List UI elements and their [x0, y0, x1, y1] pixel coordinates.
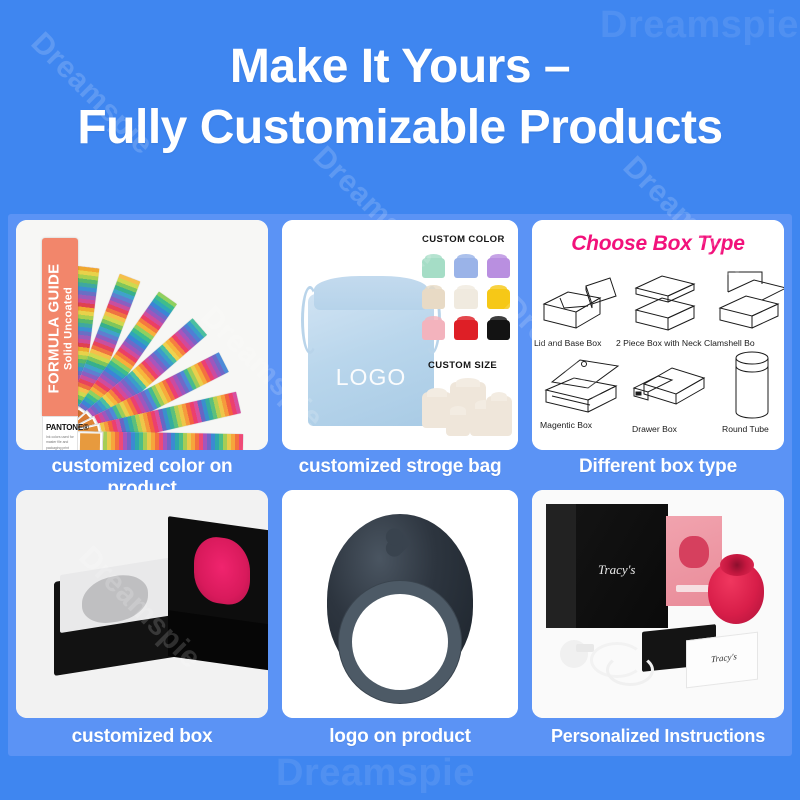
box-type-panel-title: Choose Box Type [532, 232, 784, 256]
box-icon-clamshell [714, 270, 784, 334]
size-bag [446, 410, 470, 436]
page-title: Make It Yours – Fully Customizable Produ… [0, 36, 800, 159]
bag-swatch-black [485, 314, 512, 340]
fan-blade [67, 431, 243, 450]
instructions-kit-photo: Tracy's Tracy's [532, 490, 784, 718]
caption-personalized-instructions: Personalized Instructions [532, 726, 784, 747]
card-image-customized-color: FORMULA GUIDE Solid Uncoated PANTONE® In… [16, 220, 268, 450]
card-personalized-instructions[interactable]: Tracy's Tracy's Personalized Instruction… [532, 490, 784, 752]
bag-swatch-mint [420, 252, 447, 278]
bag-swatch-lavender [485, 252, 512, 278]
size-bag [486, 396, 512, 436]
pantone-brand-label: PANTONE® [46, 423, 89, 432]
caption-customized-box: customized box [16, 726, 268, 748]
box-icon-2-piece-neck [628, 272, 700, 334]
caption-box-type: Different box type [532, 456, 784, 478]
box-label-5: Round Tube [722, 424, 769, 434]
box-type-chart: Choose Box Type Lid and Base Box [532, 220, 784, 450]
black-gift-box: Tracy's [546, 504, 668, 628]
box-label-1: 2 Piece Box with Neck [616, 338, 702, 348]
caption-logo-on-product: logo on product [282, 726, 518, 748]
pantone-guide-tab: FORMULA GUIDE Solid Uncoated [42, 238, 78, 416]
box-label-0: Lid and Base Box [534, 338, 601, 348]
custom-size-label: CUSTOM SIZE [428, 360, 497, 371]
pantone-guide-subtitle: Solid Uncoated [63, 249, 75, 409]
caption-storage-bag: customized stroge bag [282, 456, 518, 478]
card-customized-storage-bag[interactable]: LOGO CUSTOM COLOR CUSTOM SIZE customized… [282, 220, 518, 482]
card-image-storage-bag: LOGO CUSTOM COLOR CUSTOM SIZE [282, 220, 518, 450]
card-image-box-type: Choose Box Type Lid and Base Box [532, 220, 784, 450]
bag-swatch-periwinkle [452, 252, 479, 278]
ring-product-photo [282, 490, 518, 718]
box-label-4: Drawer Box [632, 424, 677, 434]
storage-bag-illustration: LOGO CUSTOM COLOR CUSTOM SIZE [282, 220, 518, 450]
product-artwork [194, 534, 250, 608]
custom-color-label: CUSTOM COLOR [422, 234, 505, 245]
card-image-customized-box [16, 490, 268, 718]
watermark: Dreamspie [276, 752, 475, 795]
pantone-guide-title: FORMULA GUIDE Solid Uncoated [46, 249, 75, 409]
bag-swatch-pink [420, 314, 447, 340]
card-image-personalized-instructions: Tracy's Tracy's [532, 490, 784, 718]
pantone-guide-illustration: FORMULA GUIDE Solid Uncoated PANTONE® In… [16, 220, 268, 450]
usb-plug [576, 644, 594, 652]
bag-swatch-beige [420, 283, 447, 309]
page-header: Make It Yours – Fully Customizable Produ… [0, 0, 800, 210]
box-icon-lid-and-base [540, 276, 618, 334]
bag-swatch-red [452, 314, 479, 340]
custom-size-bag-group [420, 378, 516, 440]
rose-petal-head [720, 554, 754, 576]
product-card-grid: FORMULA GUIDE Solid Uncoated PANTONE® In… [8, 214, 792, 756]
bag-swatch-cream [452, 283, 479, 309]
white-card-script-logo: Tracy's [711, 651, 737, 664]
white-info-card: Tracy's [686, 632, 758, 689]
box-icon-round-tube [728, 348, 776, 422]
ring-opening [352, 594, 448, 690]
title-line-1: Make It Yours – [230, 40, 570, 93]
pantone-brand-block: PANTONE® Ink colors used for master file… [42, 416, 78, 450]
card-image-logo-on-product [282, 490, 518, 718]
bag-color-swatch-grid [420, 252, 512, 340]
bag-swatch-yellow [485, 283, 512, 309]
card-different-box-type[interactable]: Choose Box Type Lid and Base Box [532, 220, 784, 482]
box-label-2: Clamshell Bo [704, 338, 755, 348]
usb-cable [606, 654, 654, 686]
pantone-fine-print: Ink colors used for master file and pack… [46, 435, 74, 450]
box-icon-drawer [628, 362, 708, 418]
title-line-2: Fully Customizable Products [0, 97, 800, 158]
card-customized-box[interactable]: customized box [16, 490, 268, 752]
box-icon-magnetic [540, 356, 624, 416]
brand-script-logo: Tracy's [598, 562, 635, 578]
card-logo-on-product[interactable]: logo on product [282, 490, 518, 752]
box-label-3: Magentic Box [540, 420, 592, 430]
card-customized-color[interactable]: FORMULA GUIDE Solid Uncoated PANTONE® In… [16, 220, 268, 482]
customized-box-photo [16, 490, 268, 718]
